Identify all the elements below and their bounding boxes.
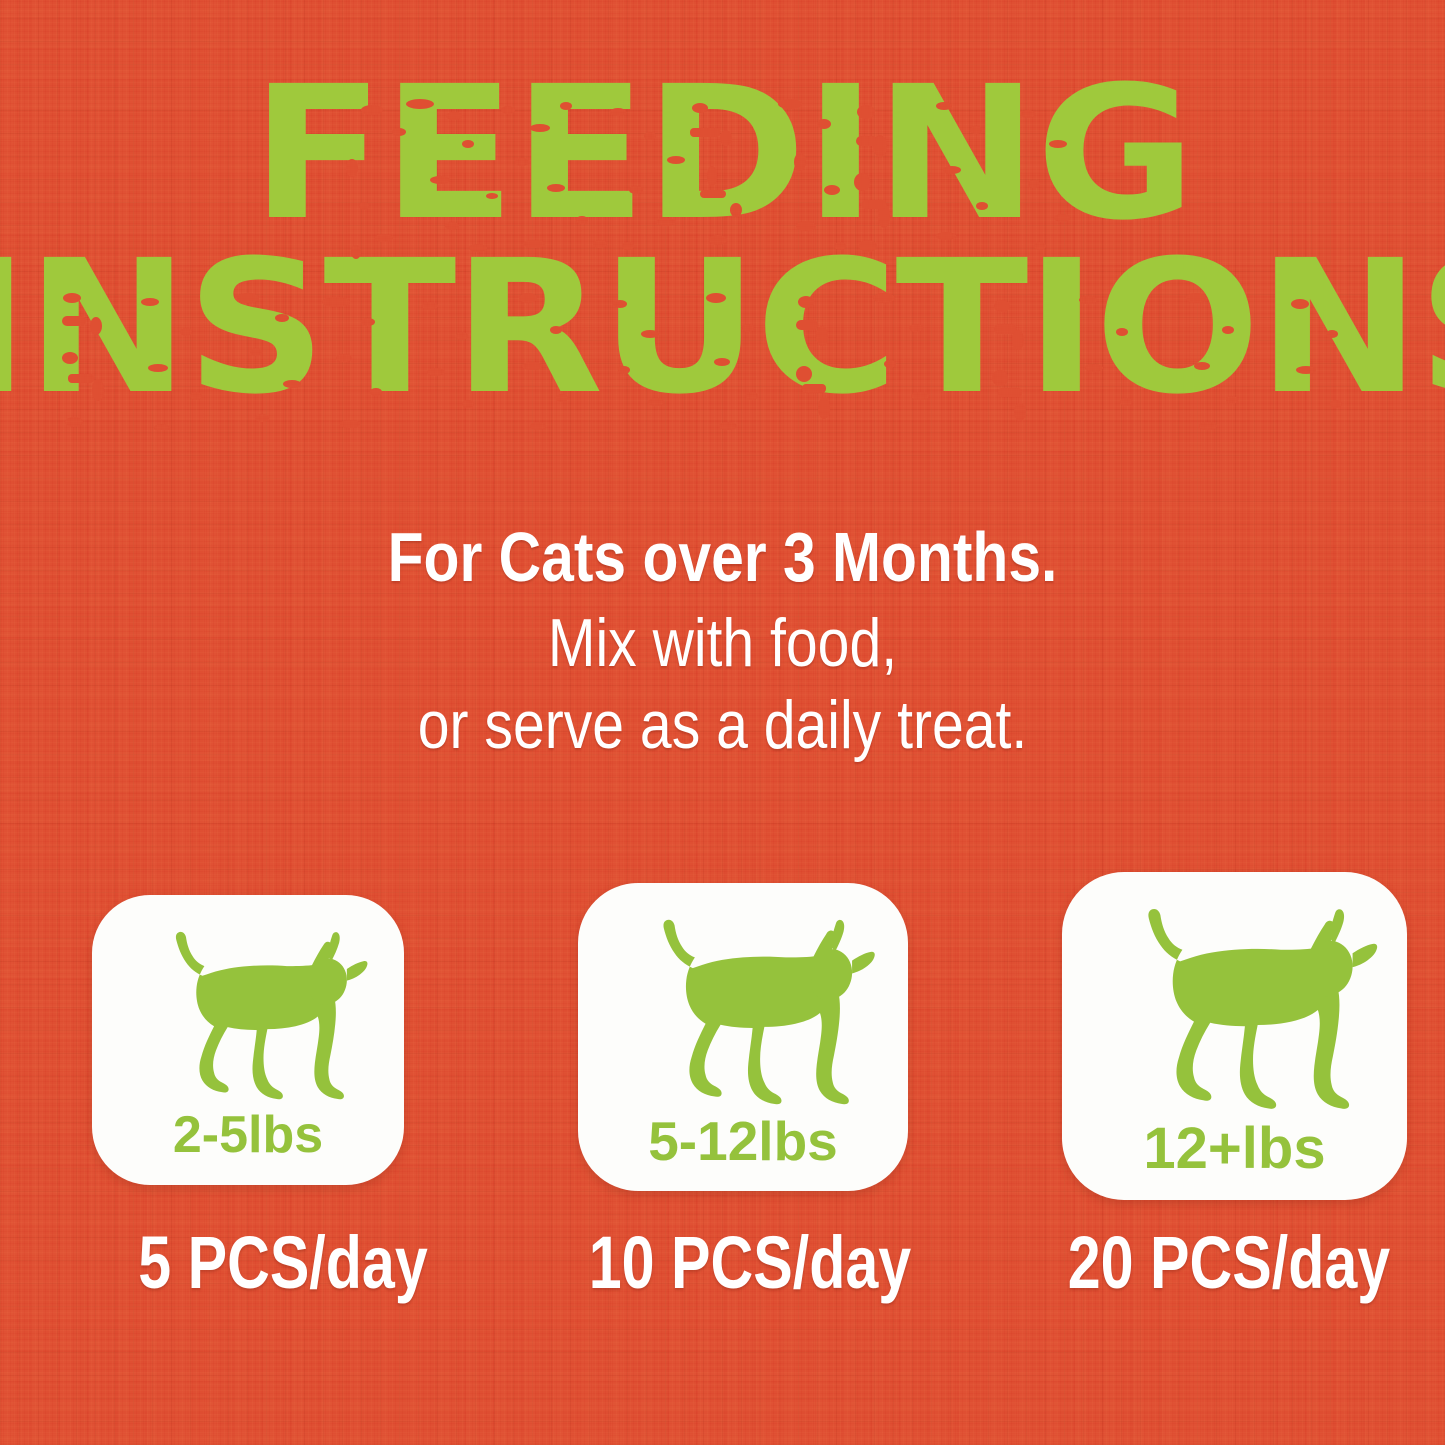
dose-label-medium: 10 PCS/day (582, 1226, 918, 1300)
cat-silhouette-large-icon (1062, 894, 1407, 1126)
weight-label-small: 2-5lbs (92, 1109, 404, 1161)
weight-label-large: 12+lbs (1062, 1120, 1407, 1178)
dose-label-small: 5 PCS/day (127, 1226, 439, 1300)
feeding-card-small: 2-5lbs (92, 895, 404, 1185)
cat-silhouette-small-icon (92, 919, 404, 1114)
cat-silhouette-medium-icon (578, 907, 908, 1119)
weight-label-medium: 5-12lbs (578, 1114, 908, 1169)
feeding-card-medium: 5-12lbs (578, 883, 908, 1191)
feeding-instructions-poster: FEEDING INSTRUCTIONS (0, 0, 1445, 1445)
feeding-card-large: 12+lbs (1062, 872, 1407, 1200)
dose-label-large: 20 PCS/day (1057, 1226, 1401, 1300)
